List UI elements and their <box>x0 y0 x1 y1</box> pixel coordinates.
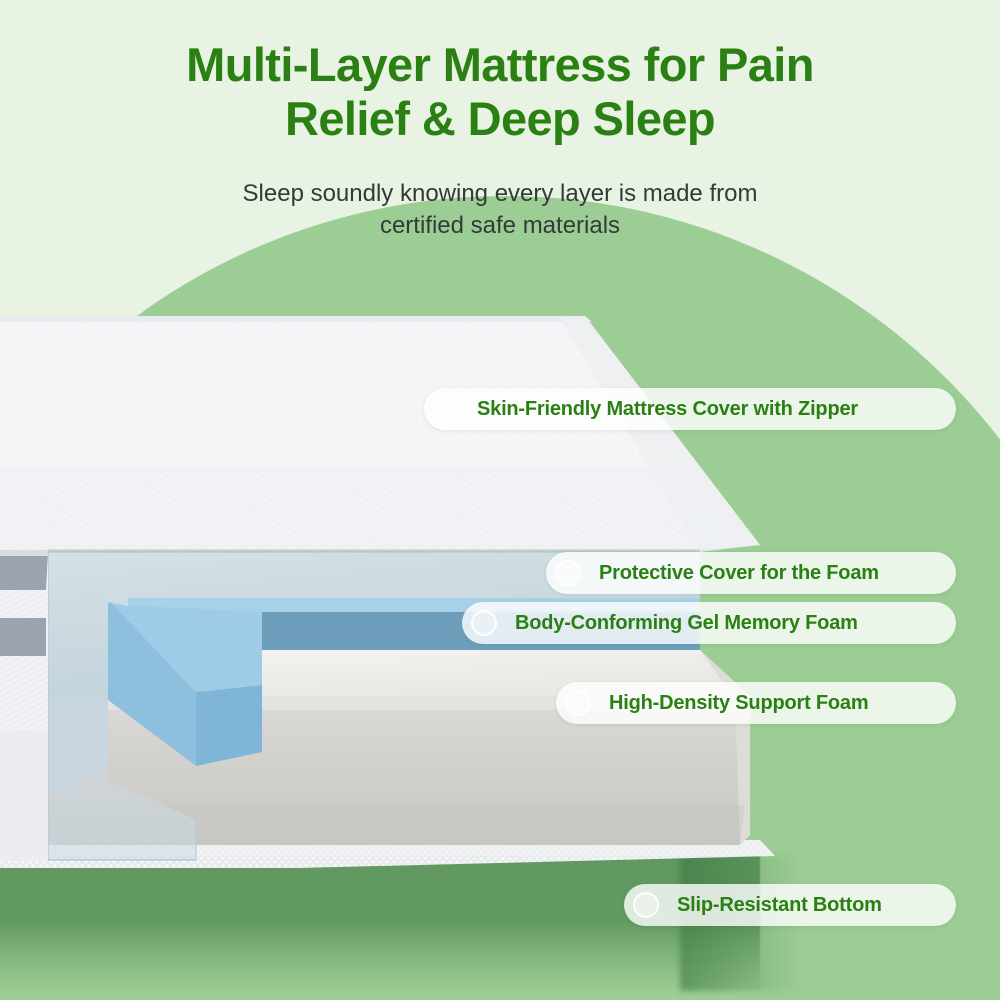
callout-support-foam[interactable]: High-Density Support Foam <box>556 682 956 724</box>
callout-protective-cover[interactable]: Protective Cover for the Foam <box>546 552 956 594</box>
callout-skin-friendly-cover[interactable]: Skin-Friendly Mattress Cover with Zipper <box>424 388 956 430</box>
page-title: Multi-Layer Mattress for Pain Relief & D… <box>0 38 1000 146</box>
bullet-dot-icon <box>565 690 591 716</box>
callout-label: Protective Cover for the Foam <box>599 562 879 585</box>
page-subtitle-line-2: certified safe materials <box>0 210 1000 242</box>
callout-label: High-Density Support Foam <box>609 692 868 715</box>
bullet-dot-icon <box>555 560 581 586</box>
callout-gel-memory-foam[interactable]: Body-Conforming Gel Memory Foam <box>462 602 956 644</box>
page-title-line-2: Relief & Deep Sleep <box>0 92 1000 146</box>
bullet-dot-icon <box>433 396 459 422</box>
callout-label: Body-Conforming Gel Memory Foam <box>515 612 858 635</box>
page-subtitle: Sleep soundly knowing every layer is mad… <box>0 178 1000 242</box>
bullet-dot-icon <box>633 892 659 918</box>
callout-label: Slip-Resistant Bottom <box>677 894 882 917</box>
callout-slip-resistant-bottom[interactable]: Slip-Resistant Bottom <box>624 884 956 926</box>
page-subtitle-line-1: Sleep soundly knowing every layer is mad… <box>0 178 1000 210</box>
infographic-canvas: Multi-Layer Mattress for Pain Relief & D… <box>0 0 1000 1000</box>
zipper-side-panel <box>0 550 48 860</box>
callout-label: Skin-Friendly Mattress Cover with Zipper <box>477 398 858 421</box>
knit-cover-layer <box>0 316 760 552</box>
page-title-line-1: Multi-Layer Mattress for Pain <box>0 38 1000 92</box>
bullet-dot-icon <box>471 610 497 636</box>
